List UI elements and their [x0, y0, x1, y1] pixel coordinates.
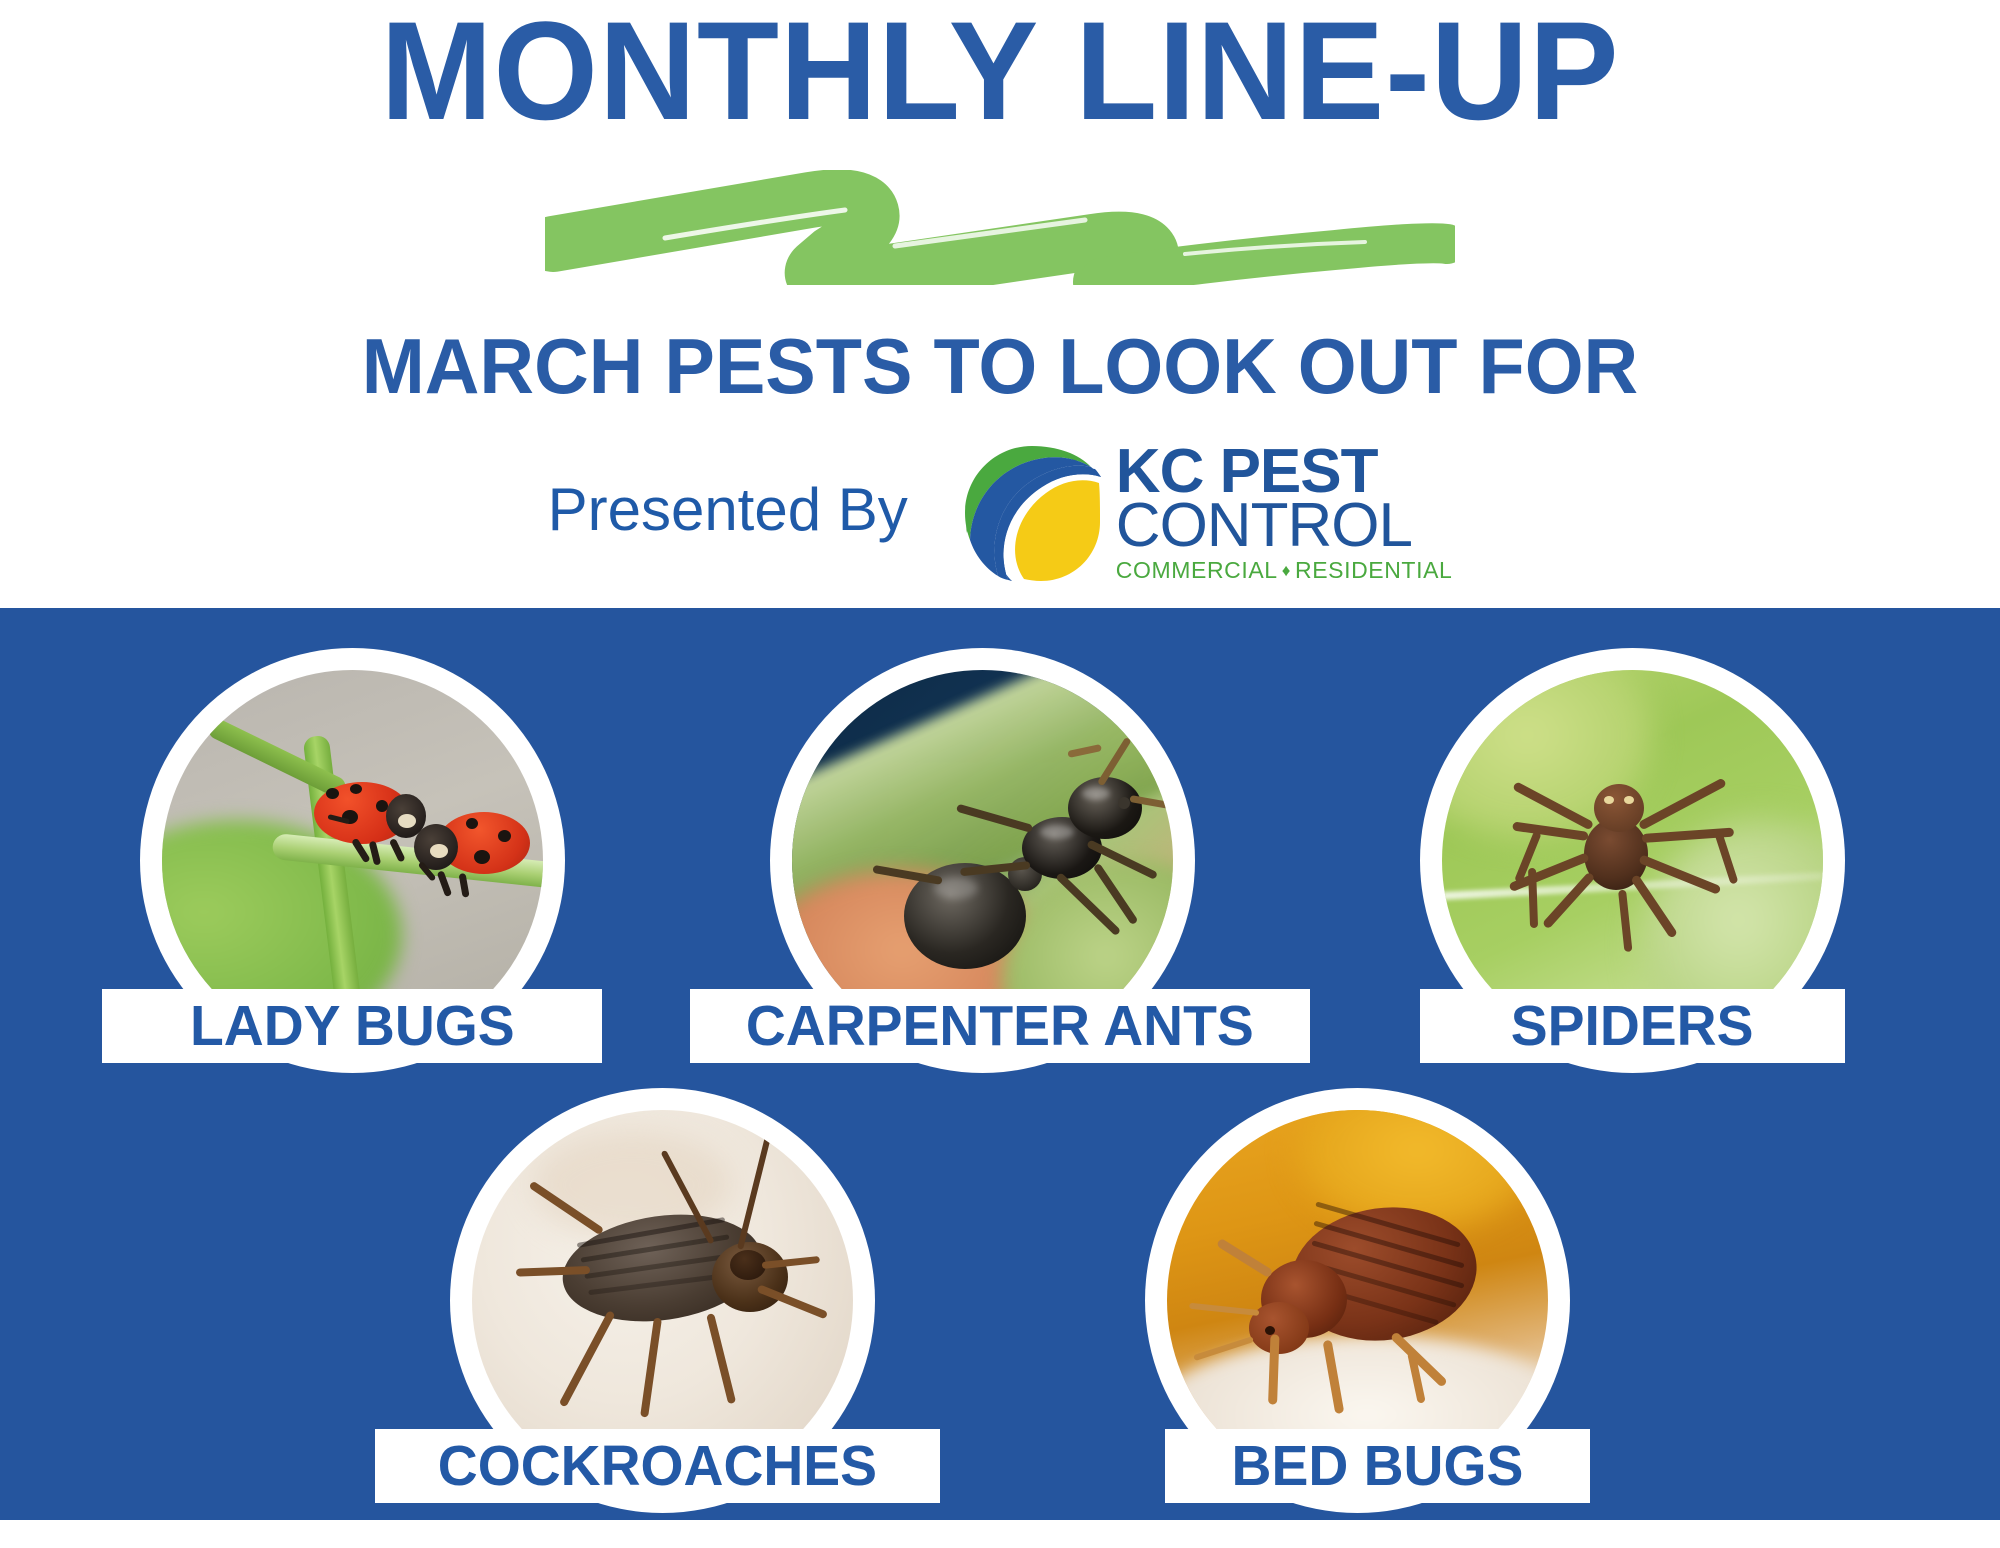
pest-label-lady-bugs: LADY BUGS: [190, 993, 515, 1059]
pest-card-spiders[interactable]: SPIDERS: [1420, 648, 1865, 1108]
logo-tagline-separator-icon: ♦: [1278, 561, 1295, 580]
pest-card-bed-bugs[interactable]: BED BUGS: [1145, 1088, 1590, 1548]
header-section: MONTHLY LINE-UP MARCH PESTS TO LOOK OUT …: [0, 0, 2000, 608]
pest-label-spiders: SPIDERS: [1511, 993, 1754, 1059]
pest-label-banner-spiders: SPIDERS: [1420, 989, 1845, 1063]
pest-label-cockroaches: COCKROACHES: [438, 1433, 877, 1499]
pest-card-carpenter-ants[interactable]: CARPENTER ANTS: [770, 648, 1215, 1108]
poster: MONTHLY LINE-UP MARCH PESTS TO LOOK OUT …: [0, 0, 2000, 1520]
pest-label-bed-bugs: BED BUGS: [1232, 1433, 1524, 1499]
page-title: MONTHLY LINE-UP: [40, 0, 1960, 146]
pest-label-banner-lady-bugs: LADY BUGS: [102, 989, 602, 1063]
logo-tagline: COMMERCIAL♦RESIDENTIAL: [1116, 557, 1453, 584]
kc-pest-control-logo: KC PEST CONTROL COMMERCIAL♦RESIDENTIAL: [962, 442, 1453, 584]
pest-grid-section: LADY BUGS: [0, 608, 2000, 1520]
pest-label-banner-bed-bugs: BED BUGS: [1165, 1429, 1590, 1503]
logo-tagline-commercial: COMMERCIAL: [1116, 557, 1278, 583]
page-subtitle: MARCH PESTS TO LOOK OUT FOR: [30, 322, 1970, 410]
green-brush-stroke-icon: [545, 170, 1455, 285]
pest-card-lady-bugs[interactable]: LADY BUGS: [140, 648, 585, 1108]
logo-wordmark: KC PEST CONTROL COMMERCIAL♦RESIDENTIAL: [1116, 444, 1453, 584]
logo-line-control: CONTROL: [1116, 497, 1453, 555]
presenter-row: Presented By KC PEST: [0, 430, 2000, 595]
pest-card-cockroaches[interactable]: COCKROACHES: [450, 1088, 895, 1548]
presented-by-label: Presented By: [548, 478, 908, 542]
pest-label-carpenter-ants: CARPENTER ANTS: [746, 993, 1254, 1059]
logo-tagline-residential: RESIDENTIAL: [1295, 557, 1452, 583]
pest-label-banner-carpenter-ants: CARPENTER ANTS: [690, 989, 1310, 1063]
pest-label-banner-cockroaches: COCKROACHES: [375, 1429, 940, 1503]
kc-logo-mark-icon: [962, 443, 1102, 583]
